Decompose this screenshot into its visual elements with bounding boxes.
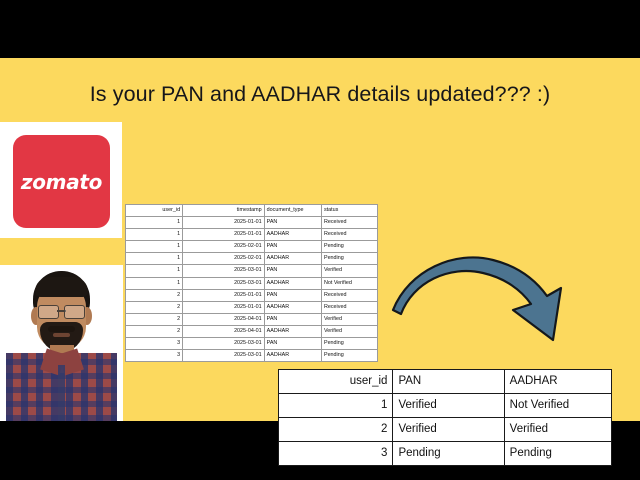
- table-cell: PAN: [264, 217, 321, 229]
- table-cell: 2: [126, 289, 183, 301]
- table-cell: Pending: [321, 253, 377, 265]
- table-cell: Not Verified: [321, 277, 377, 289]
- presenter-webcam: [0, 265, 123, 421]
- table-cell: 1: [126, 265, 183, 277]
- table-cell: AADHAR: [264, 253, 321, 265]
- table-cell: AADHAR: [264, 277, 321, 289]
- table-cell: 3: [126, 350, 183, 362]
- table-cell: 2: [126, 301, 183, 313]
- table-row: 12025-02-01PANPending: [126, 241, 378, 253]
- table-cell: PAN: [264, 241, 321, 253]
- table-row: 22025-01-01AADHARReceived: [126, 301, 378, 313]
- table-cell: 2025-03-01: [183, 350, 265, 362]
- table-cell: 2025-01-01: [183, 289, 265, 301]
- table-cell: PAN: [264, 313, 321, 325]
- table-row: 32025-03-01AADHARPending: [126, 350, 378, 362]
- table-cell: 2025-02-01: [183, 241, 265, 253]
- table-cell: Pending: [393, 442, 504, 466]
- glasses-icon: [38, 305, 85, 317]
- table-cell: Verified: [321, 313, 377, 325]
- table-cell: Verified: [393, 418, 504, 442]
- table-cell: 1: [126, 277, 183, 289]
- table-cell: Verified: [393, 394, 504, 418]
- table-cell: 2025-03-01: [183, 265, 265, 277]
- table-cell: AADHAR: [264, 229, 321, 241]
- table-cell: 2025-02-01: [183, 253, 265, 265]
- table-row: 12025-01-01AADHARReceived: [126, 229, 378, 241]
- table-cell: AADHAR: [264, 325, 321, 337]
- lens-left: [38, 305, 59, 319]
- document-events-table: user_id timestamp document_type status 1…: [125, 204, 378, 362]
- table-cell: 1: [126, 241, 183, 253]
- table-cell: 2025-01-01: [183, 217, 265, 229]
- table-cell: 2025-01-01: [183, 229, 265, 241]
- table-cell: PAN: [264, 265, 321, 277]
- table-cell: 3: [279, 442, 393, 466]
- table-row: 32025-03-01PANPending: [126, 338, 378, 350]
- pivoted-status-table: user_id PAN AADHAR 1VerifiedNot Verified…: [278, 369, 612, 466]
- mouth-shape: [53, 333, 70, 337]
- table-cell: AADHAR: [264, 301, 321, 313]
- table-cell: Pending: [321, 241, 377, 253]
- lens-right: [64, 305, 85, 319]
- column-header-status: status: [321, 205, 377, 217]
- table-cell: Received: [321, 301, 377, 313]
- table-cell: 2: [126, 313, 183, 325]
- column-header-document-type: document_type: [264, 205, 321, 217]
- table-cell: 2: [126, 325, 183, 337]
- table-row: 22025-04-01AADHARVerified: [126, 325, 378, 337]
- fringe-shape: [35, 277, 88, 297]
- table-cell: 2: [279, 418, 393, 442]
- zomato-logo-text: zomato: [21, 170, 102, 194]
- table-cell: 2025-03-01: [183, 277, 265, 289]
- zomato-logo-mark: zomato: [13, 135, 110, 228]
- table-cell: Received: [321, 229, 377, 241]
- column-header-timestamp: timestamp: [183, 205, 265, 217]
- table-cell: Verified: [321, 265, 377, 277]
- shirt-placket: [58, 365, 65, 421]
- table-cell: 1: [279, 394, 393, 418]
- result-column-header-pan: PAN: [393, 370, 504, 394]
- table-row: 1VerifiedNot Verified: [279, 394, 612, 418]
- moustache-shape: [48, 326, 75, 332]
- table-cell: Verified: [321, 325, 377, 337]
- logo-card: zomato: [0, 122, 122, 238]
- table-cell: 2025-04-01: [183, 313, 265, 325]
- curved-arrow-icon: [385, 248, 575, 353]
- table-cell: Received: [321, 289, 377, 301]
- table-cell: Pending: [321, 350, 377, 362]
- table-cell: 1: [126, 229, 183, 241]
- table-row: 3PendingPending: [279, 442, 612, 466]
- table-cell: PAN: [264, 289, 321, 301]
- table-row: 12025-02-01AADHARPending: [126, 253, 378, 265]
- table-row: 12025-01-01PANReceived: [126, 217, 378, 229]
- table-cell: Pending: [504, 442, 611, 466]
- page-title: Is your PAN and AADHAR details updated??…: [0, 82, 640, 107]
- table-cell: AADHAR: [264, 350, 321, 362]
- presenter-avatar: [0, 265, 123, 421]
- table-cell: PAN: [264, 338, 321, 350]
- result-column-header-aadhar: AADHAR: [504, 370, 611, 394]
- table-row: 22025-01-01PANReceived: [126, 289, 378, 301]
- result-column-header-user-id: user_id: [279, 370, 393, 394]
- table-row: 2VerifiedVerified: [279, 418, 612, 442]
- table-cell: 2025-01-01: [183, 301, 265, 313]
- table-cell: 2025-04-01: [183, 325, 265, 337]
- letterbox-top: [0, 0, 640, 58]
- result-header-row: user_id PAN AADHAR: [279, 370, 612, 394]
- table-header-row: user_id timestamp document_type status: [126, 205, 378, 217]
- table-cell: Received: [321, 217, 377, 229]
- table-cell: 2025-03-01: [183, 338, 265, 350]
- table-cell: Not Verified: [504, 394, 611, 418]
- table-cell: 1: [126, 217, 183, 229]
- table-cell: Pending: [321, 338, 377, 350]
- table-cell: 3: [126, 338, 183, 350]
- table-row: 12025-03-01PANVerified: [126, 265, 378, 277]
- table-row: 22025-04-01PANVerified: [126, 313, 378, 325]
- slide-canvas: Is your PAN and AADHAR details updated??…: [0, 58, 640, 421]
- column-header-user-id: user_id: [126, 205, 183, 217]
- table-cell: 1: [126, 253, 183, 265]
- table-row: 12025-03-01AADHARNot Verified: [126, 277, 378, 289]
- table-cell: Verified: [504, 418, 611, 442]
- slide-stage: Is your PAN and AADHAR details updated??…: [0, 0, 640, 480]
